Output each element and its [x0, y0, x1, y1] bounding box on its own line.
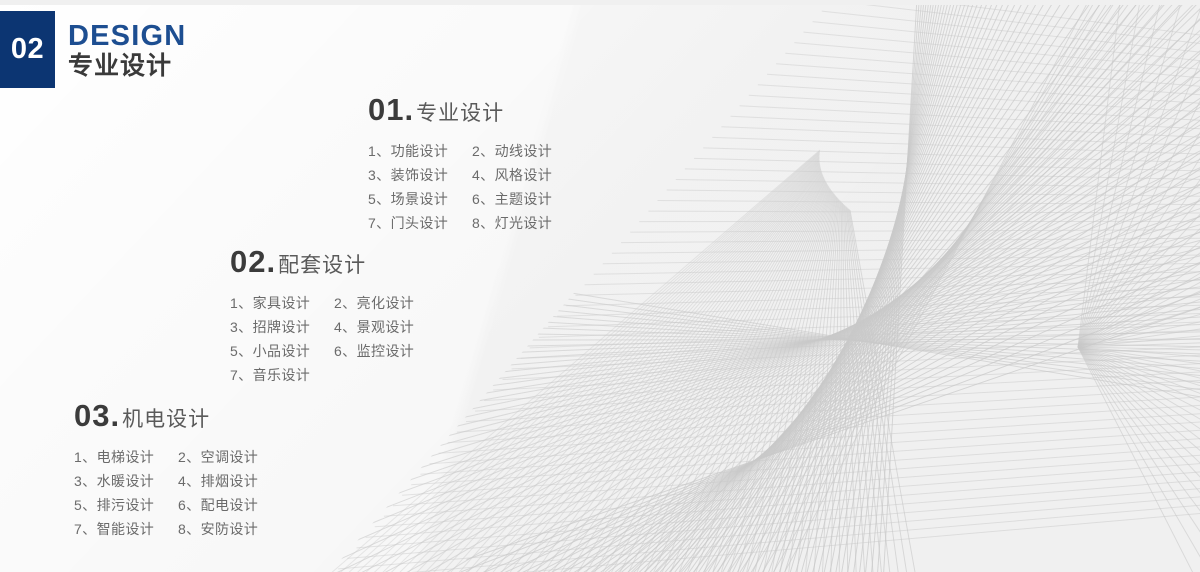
section-1-name: 专业设计	[416, 97, 504, 127]
list-item: 5、小品设计 6、监控设计	[230, 339, 414, 363]
section-1-dot: .	[404, 92, 413, 128]
header-text-group: DESIGN 专业设计	[68, 11, 186, 88]
list-item-right: 6、主题设计	[472, 187, 552, 211]
list-item: 1、家具设计 2、亮化设计	[230, 291, 414, 315]
list-item-right: 4、风格设计	[472, 163, 552, 187]
section-2-title: 02 . 配套设计	[230, 244, 414, 280]
list-item: 3、水暖设计 4、排烟设计	[74, 469, 258, 493]
content-section-1: 01 . 专业设计 1、功能设计 2、动线设计 3、装饰设计 4、风格设计 5、…	[368, 92, 552, 235]
section-number-badge: 02	[0, 11, 55, 88]
list-item-left: 3、装饰设计	[368, 163, 472, 187]
list-item-left: 1、功能设计	[368, 139, 472, 163]
list-item-right: 2、动线设计	[472, 139, 552, 163]
section-3-dot: .	[110, 398, 119, 434]
list-item-left: 1、电梯设计	[74, 445, 178, 469]
section-1-title: 01 . 专业设计	[368, 92, 552, 128]
section-3-title: 03 . 机电设计	[74, 398, 258, 434]
list-item-left: 7、门头设计	[368, 211, 472, 235]
list-item: 3、装饰设计 4、风格设计	[368, 163, 552, 187]
list-item-left: 5、排污设计	[74, 493, 178, 517]
list-item: 7、音乐设计	[230, 363, 414, 387]
top-edge-band	[0, 0, 1200, 5]
list-item: 1、电梯设计 2、空调设计	[74, 445, 258, 469]
content-section-3: 03 . 机电设计 1、电梯设计 2、空调设计 3、水暖设计 4、排烟设计 5、…	[74, 398, 258, 541]
list-item-right: 4、排烟设计	[178, 469, 258, 493]
list-item-left: 5、场景设计	[368, 187, 472, 211]
slide-canvas: 02 DESIGN 专业设计 01 . 专业设计 1、功能设计 2、动线设计 3…	[0, 0, 1200, 572]
list-item: 7、门头设计 8、灯光设计	[368, 211, 552, 235]
list-item-left: 3、招牌设计	[230, 315, 334, 339]
section-1-number: 01	[368, 92, 404, 128]
list-item-left: 5、小品设计	[230, 339, 334, 363]
list-item-right: 2、空调设计	[178, 445, 258, 469]
list-item-left: 7、音乐设计	[230, 363, 334, 387]
list-item-right: 2、亮化设计	[334, 291, 414, 315]
content-section-2: 02 . 配套设计 1、家具设计 2、亮化设计 3、招牌设计 4、景观设计 5、…	[230, 244, 414, 387]
list-item-right: 4、景观设计	[334, 315, 414, 339]
list-item-right: 6、监控设计	[334, 339, 414, 363]
list-item: 3、招牌设计 4、景观设计	[230, 315, 414, 339]
header-title-cn: 专业设计	[68, 53, 186, 81]
list-item-right: 8、灯光设计	[472, 211, 552, 235]
list-item: 7、智能设计 8、安防设计	[74, 517, 258, 541]
list-item-left: 1、家具设计	[230, 291, 334, 315]
section-2-dot: .	[266, 244, 275, 280]
section-3-number: 03	[74, 398, 110, 434]
list-item: 1、功能设计 2、动线设计	[368, 139, 552, 163]
section-2-name: 配套设计	[278, 249, 366, 279]
list-item: 5、场景设计 6、主题设计	[368, 187, 552, 211]
list-item-left: 3、水暖设计	[74, 469, 178, 493]
list-item: 5、排污设计 6、配电设计	[74, 493, 258, 517]
list-item-right: 8、安防设计	[178, 517, 258, 541]
header-title-en: DESIGN	[68, 21, 186, 52]
section-2-number: 02	[230, 244, 266, 280]
slide-header: 02 DESIGN 专业设计	[0, 11, 186, 88]
list-item-left: 7、智能设计	[74, 517, 178, 541]
section-3-name: 机电设计	[122, 403, 210, 433]
list-item-right: 6、配电设计	[178, 493, 258, 517]
